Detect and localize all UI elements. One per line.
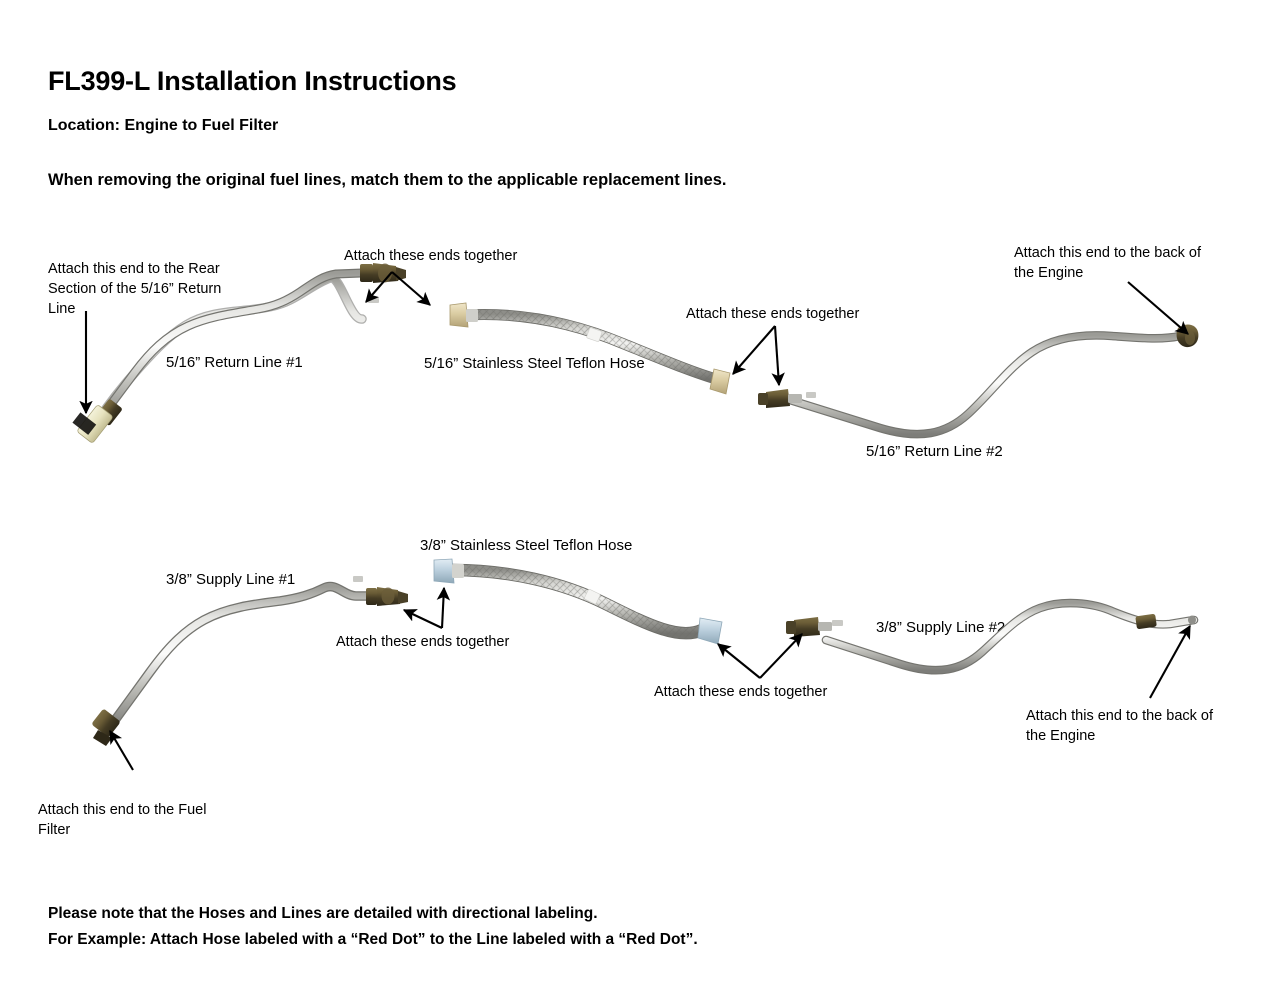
annotation-engine-top: Attach this end to the back of the Engin… [1014, 243, 1201, 283]
footer-note: Please note that the Hoses and Lines are… [48, 901, 698, 953]
part-supply-line-2[interactable] [786, 603, 1196, 670]
fitting-return-line-1-right [360, 263, 406, 283]
annotation-rear-section: Attach this end to the Rear Section of t… [48, 259, 221, 319]
footer-note-line-1: Please note that the Hoses and Lines are… [48, 901, 698, 927]
part-label-teflon-hose-516: 5/16” Stainless Steel Teflon Hose [424, 355, 645, 372]
directional-label-mark [832, 620, 843, 626]
arrow-fuel-filter [110, 731, 133, 770]
arrow-engine-top [1128, 282, 1188, 334]
part-label-teflon-hose-38: 3/8” Stainless Steel Teflon Hose [420, 537, 632, 554]
part-supply-line-1[interactable] [91, 576, 408, 746]
annotation-attach-ends-top-left: Attach these ends together [344, 246, 517, 266]
fitting-hose-516-right [710, 369, 730, 394]
fitting-return-line-1-left [72, 398, 122, 443]
fitting-hose-516-left [450, 303, 478, 327]
arrow-attach-bottom-right-b [760, 634, 802, 678]
arrow-attach-bottom-left-a [404, 610, 442, 628]
fitting-supply-line-2-left [786, 617, 832, 637]
annotation-engine-bottom: Attach this end to the back of the Engin… [1026, 706, 1213, 746]
arrow-attach-top-right-a [733, 326, 775, 374]
annotation-attach-ends-top-right: Attach these ends together [686, 304, 859, 324]
page-title: FL399-L Installation Instructions [48, 66, 456, 97]
fitting-return-line-2-right [1177, 325, 1199, 348]
annotation-attach-ends-bottom-right: Attach these ends together [654, 682, 827, 702]
location-subtitle: Location: Engine to Fuel Filter [48, 117, 278, 135]
annotation-attach-ends-bottom-left: Attach these ends together [336, 632, 509, 652]
arrow-attach-top-right-b [775, 326, 779, 385]
fuel-line-diagram [0, 0, 1280, 989]
part-return-line-2[interactable] [758, 325, 1198, 435]
fitting-hose-38-left [434, 559, 464, 583]
arrow-attach-bottom-right-a [718, 644, 760, 678]
installation-instructions-page: FL399-L Installation Instructions Locati… [0, 0, 1280, 989]
part-label-supply-line-1: 3/8” Supply Line #1 [166, 571, 295, 588]
directional-label-mark [806, 392, 816, 398]
main-instruction-text: When removing the original fuel lines, m… [48, 171, 726, 190]
fitting-hose-38-right [698, 618, 722, 644]
arrow-engine-bottom [1150, 626, 1190, 698]
directional-label-mark [353, 576, 363, 582]
annotation-fuel-filter: Attach this end to the Fuel Filter [38, 800, 206, 840]
fitting-supply-line-1-right [366, 587, 408, 606]
part-label-return-line-2: 5/16” Return Line #2 [866, 443, 1003, 460]
directional-label-mark [368, 298, 379, 303]
part-label-supply-line-2: 3/8” Supply Line #2 [876, 619, 1005, 636]
footer-note-line-2: For Example: Attach Hose labeled with a … [48, 927, 698, 953]
part-label-return-line-1: 5/16” Return Line #1 [166, 354, 303, 371]
arrow-attach-bottom-left-b [442, 588, 444, 628]
